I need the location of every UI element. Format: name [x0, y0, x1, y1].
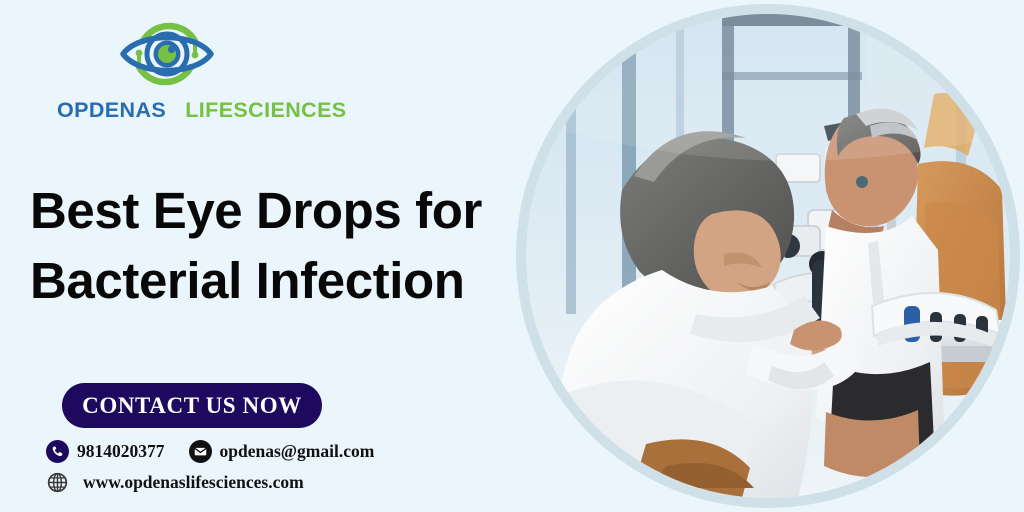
website-contact[interactable]: www.opdenaslifesciences.com [46, 471, 304, 494]
phone-number: 9814020377 [77, 441, 165, 462]
website-url: www.opdenaslifesciences.com [83, 472, 304, 493]
photo-ring [516, 4, 1020, 508]
email-address: opdenas@gmail.com [220, 441, 375, 462]
promo-banner: OPDENAS LIFESCIENCES Best Eye Drops for … [0, 0, 1024, 512]
brand-wordmark: OPDENAS LIFESCIENCES [57, 98, 277, 123]
globe-icon [46, 471, 69, 494]
clinic-photo [526, 14, 1010, 498]
phone-contact[interactable]: 9814020377 [46, 440, 165, 463]
contact-us-button[interactable]: CONTACT US NOW [62, 383, 322, 428]
brand-logo[interactable]: OPDENAS LIFESCIENCES [57, 14, 277, 123]
brand-name-secondary: LIFESCIENCES [185, 98, 346, 122]
envelope-icon [189, 440, 212, 463]
phone-icon [46, 440, 69, 463]
clinic-photo-illustration [526, 14, 1010, 498]
headline-line-2: Bacterial Infection [30, 246, 510, 316]
contact-row-primary: 9814020377 opdenas@gmail.com [46, 440, 374, 463]
headline-line-1: Best Eye Drops for [30, 176, 510, 246]
page-title: Best Eye Drops for Bacterial Infection [30, 176, 510, 317]
eye-circuit-logo-icon [117, 14, 217, 94]
brand-name-primary: OPDENAS [57, 98, 166, 122]
content-panel: OPDENAS LIFESCIENCES Best Eye Drops for … [0, 0, 520, 512]
email-contact[interactable]: opdenas@gmail.com [189, 440, 375, 463]
contact-row-secondary: www.opdenaslifesciences.com [46, 471, 304, 494]
